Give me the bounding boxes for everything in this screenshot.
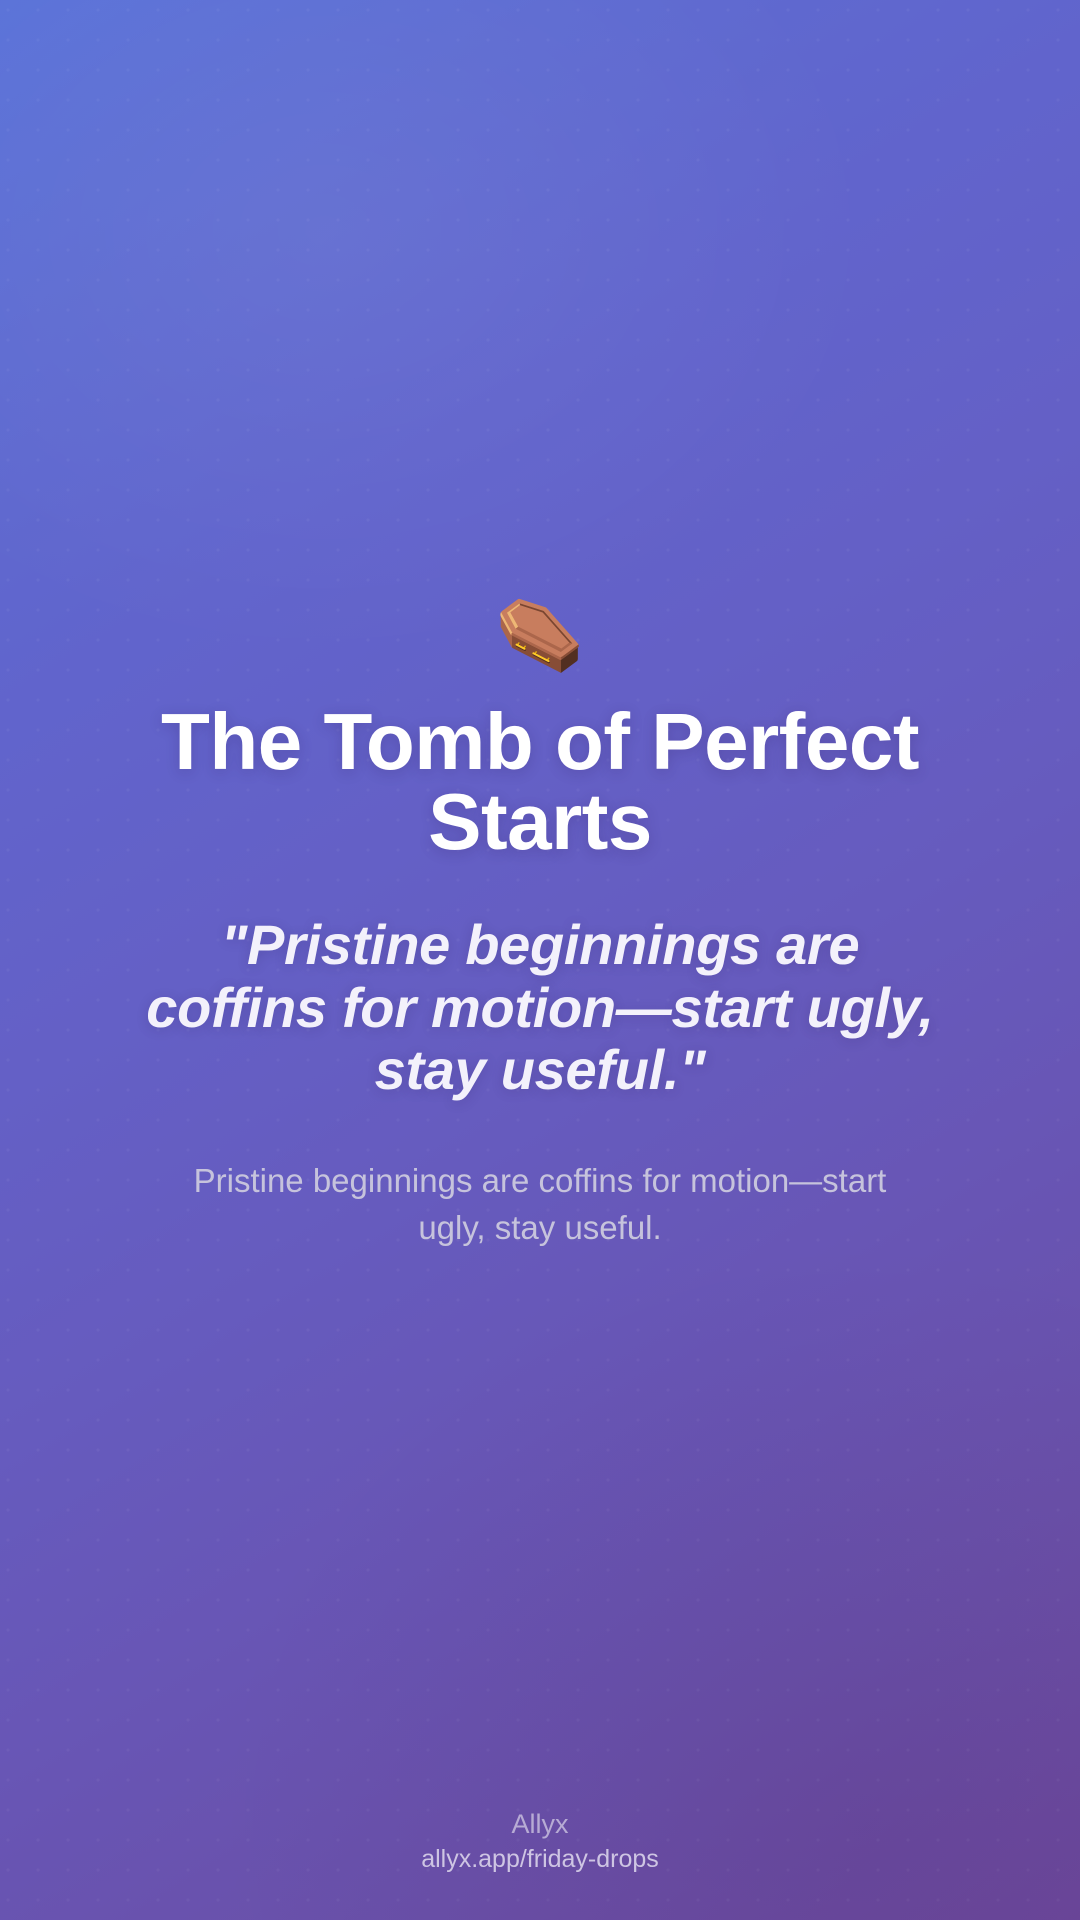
body-text: Pristine beginnings are coffins for moti… [180, 1158, 900, 1252]
pull-quote: "Pristine beginnings are coffins for mot… [125, 914, 955, 1102]
poster-content: ⚰️ The Tomb of Perfect Starts "Pristine … [0, 0, 1080, 1920]
quote-poster: ⚰️ The Tomb of Perfect Starts "Pristine … [0, 0, 1080, 1920]
page-title: The Tomb of Perfect Starts [140, 702, 940, 862]
coffin-emoji: ⚰️ [495, 592, 585, 678]
